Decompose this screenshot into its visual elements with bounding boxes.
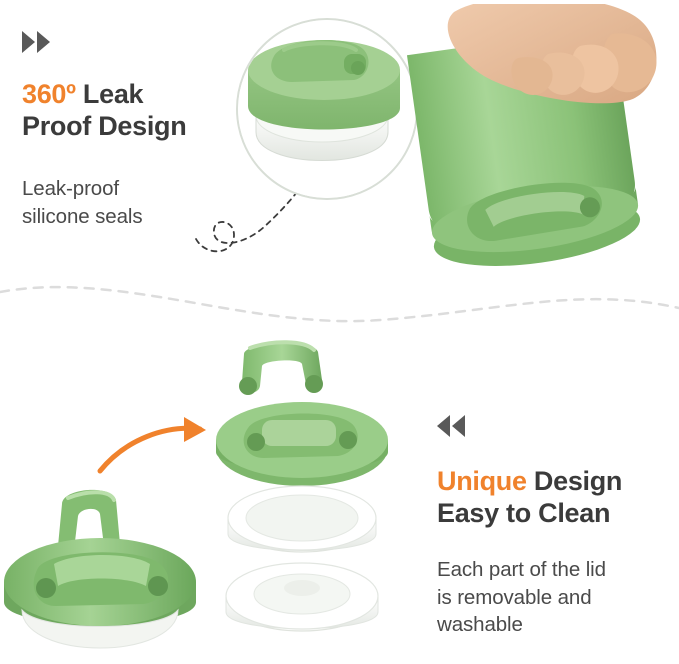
assembled-lid-illustration [0, 482, 210, 664]
promo-image: 360º Leak Proof Design Leak-proof silico… [0, 0, 679, 664]
top-left-headline: 360º Leak Proof Design [22, 79, 272, 143]
assembled-lid-photo [0, 482, 210, 664]
exploded-lid-photo [186, 336, 418, 646]
triangle-left-1-icon [437, 415, 450, 437]
triangle-left-2-icon [452, 415, 465, 437]
lid-top-part [216, 402, 388, 486]
triangle-right-2-icon [37, 31, 50, 53]
hand-holding-bottle-photo [398, 4, 679, 302]
silicone-ring-lower [226, 563, 378, 631]
top-left-headline-accent: 360º [22, 79, 76, 109]
bottom-right-headline-rest: Design [527, 466, 622, 496]
silicone-ring-upper [228, 486, 376, 552]
lid-closeup-illustration [238, 20, 416, 198]
bottom-right-subcopy-line3: washable [437, 613, 523, 636]
zoom-detail-circle [236, 18, 418, 200]
exploded-lid-illustration [186, 336, 418, 646]
bottom-right-subcopy: Each part of the lid is removable and wa… [437, 556, 675, 639]
bottom-right-headline: Unique Design Easy to Clean [437, 466, 677, 530]
top-left-subcopy-line1: Leak-proof [22, 177, 119, 200]
double-triangle-right-icon [22, 31, 50, 53]
top-left-headline-line2: Proof Design [22, 111, 186, 141]
hand-bottle-illustration [398, 4, 679, 302]
top-left-headline-rest: Leak [76, 79, 144, 109]
top-left-subcopy-line2: silicone seals [22, 205, 143, 228]
triangle-right-1-icon [22, 31, 35, 53]
bottom-right-headline-accent: Unique [437, 466, 527, 496]
bottom-right-subcopy-line1: Each part of the lid [437, 558, 606, 581]
double-triangle-left-icon [437, 415, 465, 437]
wavy-dashed-divider [0, 278, 679, 340]
bottom-right-subcopy-line2: is removable and [437, 586, 592, 609]
lid-handle-part [239, 342, 323, 395]
bottom-right-headline-line2: Easy to Clean [437, 498, 610, 528]
